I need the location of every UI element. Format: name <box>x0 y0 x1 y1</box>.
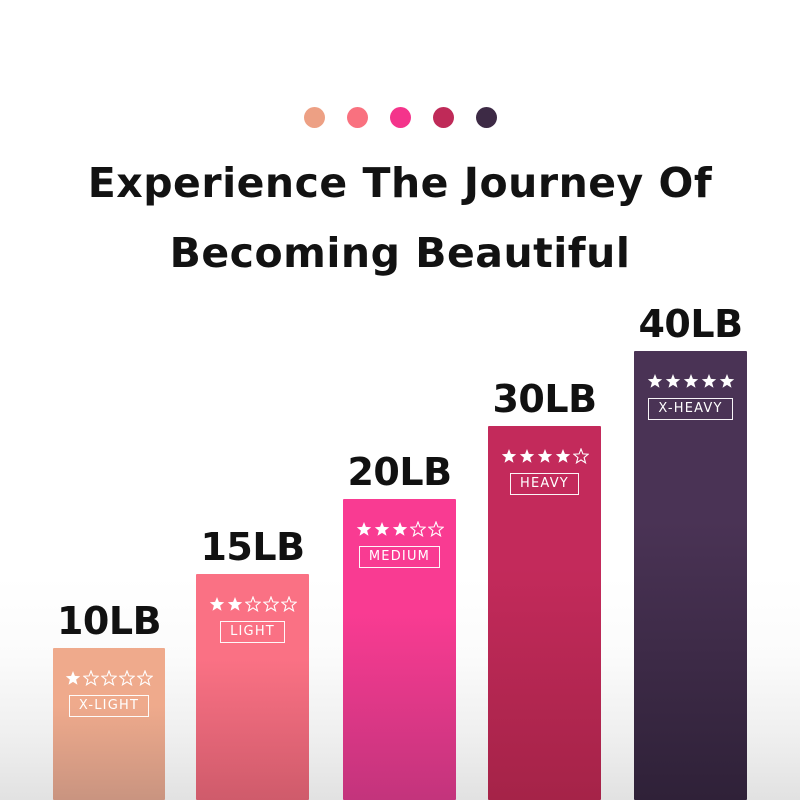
star-filled-icon <box>701 373 717 389</box>
star-outline-icon <box>245 596 261 612</box>
star-filled-icon <box>374 521 390 537</box>
bar-badge-light: LIGHT <box>196 596 309 643</box>
star-outline-icon <box>83 670 99 686</box>
star-outline-icon <box>263 596 279 612</box>
star-rating <box>65 670 153 686</box>
bar-group-x-light: X-LIGHT10LB <box>53 648 165 800</box>
star-filled-icon <box>537 448 553 464</box>
bar-badge-heavy: HEAVY <box>488 448 601 495</box>
star-filled-icon <box>719 373 735 389</box>
star-outline-icon <box>410 521 426 537</box>
bar-group-medium: MEDIUM20LB <box>343 499 456 800</box>
bar-badge-x-heavy: X-HEAVY <box>634 373 747 420</box>
bar-value-label: 40LB <box>634 303 747 345</box>
tier-badge: X-HEAVY <box>648 398 732 420</box>
star-outline-icon <box>137 670 153 686</box>
star-outline-icon <box>101 670 117 686</box>
star-outline-icon <box>573 448 589 464</box>
bar-value-label: 20LB <box>343 451 456 493</box>
star-filled-icon <box>647 373 663 389</box>
bar-value-label: 15LB <box>196 526 309 568</box>
bar-value-label: 30LB <box>488 378 601 420</box>
bar-group-light: LIGHT15LB <box>196 574 309 800</box>
star-filled-icon <box>227 596 243 612</box>
bar-group-heavy: HEAVY30LB <box>488 426 601 800</box>
tier-badge: MEDIUM <box>359 546 440 568</box>
resistance-band-bar-chart: X-LIGHT10LBLIGHT15LBMEDIUM20LBHEAVY30LBX… <box>0 0 800 800</box>
star-rating <box>209 596 297 612</box>
bar-badge-x-light: X-LIGHT <box>53 670 165 717</box>
star-filled-icon <box>501 448 517 464</box>
promo-poster: Experience The Journey Of Becoming Beaut… <box>0 0 800 800</box>
tier-badge: X-LIGHT <box>69 695 149 717</box>
star-rating <box>356 521 444 537</box>
star-outline-icon <box>119 670 135 686</box>
star-filled-icon <box>65 670 81 686</box>
bar-value-label: 10LB <box>53 600 165 642</box>
star-filled-icon <box>683 373 699 389</box>
star-rating <box>647 373 735 389</box>
star-rating <box>501 448 589 464</box>
tier-badge: LIGHT <box>220 621 285 643</box>
tier-badge: HEAVY <box>510 473 579 495</box>
bar-group-x-heavy: X-HEAVY40LB <box>634 351 747 800</box>
star-outline-icon <box>428 521 444 537</box>
star-filled-icon <box>519 448 535 464</box>
star-filled-icon <box>555 448 571 464</box>
star-filled-icon <box>209 596 225 612</box>
star-filled-icon <box>665 373 681 389</box>
star-filled-icon <box>356 521 372 537</box>
bar-badge-medium: MEDIUM <box>343 521 456 568</box>
star-outline-icon <box>281 596 297 612</box>
star-filled-icon <box>392 521 408 537</box>
